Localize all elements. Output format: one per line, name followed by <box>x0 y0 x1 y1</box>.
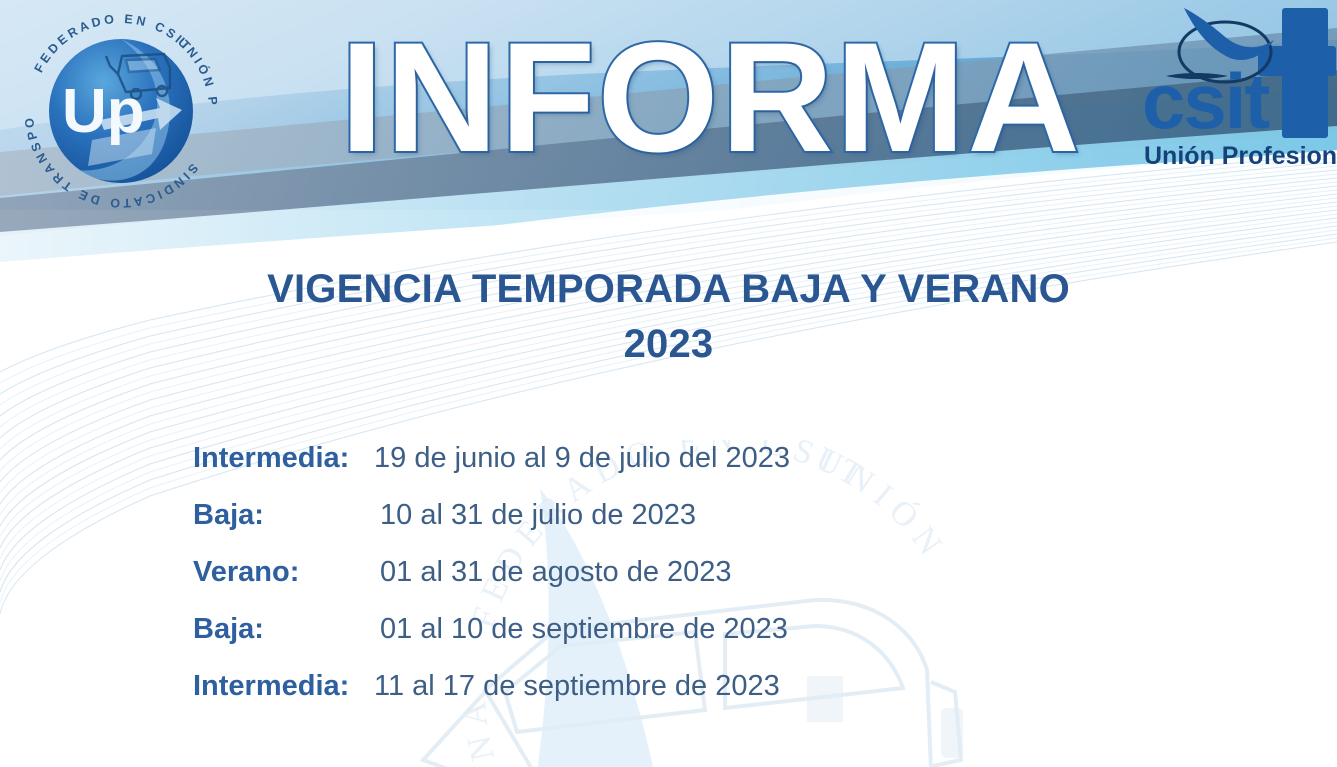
schedule-row-label: Intermedia: <box>193 442 349 475</box>
up-union-profesional-logo: FEDERADO EN CSIT UNIÓN PROFESIONAL SINDI… <box>14 4 228 218</box>
season-schedule-list: Intermedia: 19 de junio al 9 de julio de… <box>193 442 1093 727</box>
schedule-row-label: Baja: <box>193 499 264 532</box>
csit-wordmark: csit <box>1142 57 1270 145</box>
page-title-line-2: 2023 <box>0 317 1337 372</box>
csit-t-letter <box>1258 8 1336 138</box>
poster-page: FEDERADO EN CSIT UNIÓN PROFESIONAL SINDI… <box>0 0 1337 767</box>
schedule-row-label: Intermedia: <box>193 670 349 703</box>
schedule-row-value: 19 de junio al 9 de julio del 2023 <box>374 442 790 475</box>
schedule-row-value: 01 al 10 de septiembre de 2023 <box>380 613 788 646</box>
schedule-row-value: 01 al 31 de agosto de 2023 <box>380 556 732 589</box>
schedule-row: Intermedia: 11 al 17 de septiembre de 20… <box>193 670 1093 727</box>
schedule-row: Baja: 01 al 10 de septiembre de 2023 <box>193 613 1093 670</box>
schedule-row-value: 10 al 31 de julio de 2023 <box>380 499 696 532</box>
schedule-row: Verano: 01 al 31 de agosto de 2023 <box>193 556 1093 613</box>
page-title-line-1: VIGENCIA TEMPORADA BAJA Y VERANO <box>0 262 1337 317</box>
schedule-row-value: 11 al 17 de septiembre de 2023 <box>374 670 780 703</box>
schedule-row: Baja: 10 al 31 de julio de 2023 <box>193 499 1093 556</box>
up-logo-monogram: Up <box>62 77 145 146</box>
schedule-row-label: Verano: <box>193 556 299 589</box>
page-title: VIGENCIA TEMPORADA BAJA Y VERANO 2023 <box>0 262 1337 372</box>
schedule-row-label: Baja: <box>193 613 264 646</box>
csit-logo: csit Unión Profesional <box>1122 2 1337 192</box>
schedule-row: Intermedia: 19 de junio al 9 de julio de… <box>193 442 1093 499</box>
banner-title: INFORMA <box>296 8 1126 188</box>
csit-tagline: Unión Profesional <box>1144 142 1337 170</box>
